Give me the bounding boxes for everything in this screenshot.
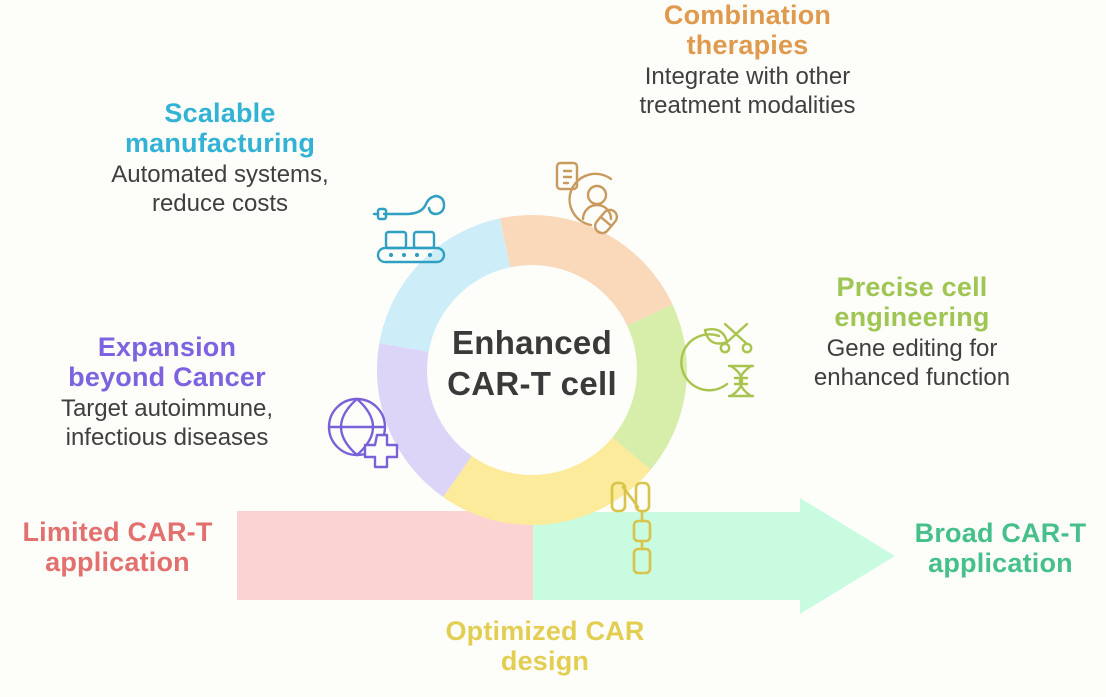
label-optimized-car-design: Optimized CAR design	[400, 616, 690, 676]
expansion-desc-line2: infectious diseases	[2, 424, 332, 453]
diagram-canvas: Enhanced CAR-T cell Combination therapie…	[0, 0, 1106, 697]
center-label: Enhanced CAR-T cell	[392, 322, 672, 405]
label-precise-cell-engineering: Precise cell engineering Gene editing fo…	[762, 272, 1062, 393]
scalable-title-line1: Scalable	[55, 98, 385, 128]
combination-title-line1: Combination	[575, 0, 920, 30]
combination-title-line2: therapies	[575, 30, 920, 60]
precise-desc-line1: Gene editing for	[762, 335, 1062, 364]
center-label-line1: Enhanced	[392, 322, 672, 363]
scalable-desc-line1: Automated systems,	[55, 161, 385, 190]
optimized-title-line1: Optimized CAR	[400, 616, 690, 646]
broad-title-line1: Broad CAR-T	[895, 518, 1106, 548]
precise-title-line2: engineering	[762, 302, 1062, 332]
precise-title-line1: Precise cell	[762, 272, 1062, 302]
label-limited-car-t-application: Limited CAR-T application	[0, 517, 235, 577]
combination-desc-line2: treatment modalities	[575, 92, 920, 121]
globe-cross-icon	[329, 399, 397, 467]
label-broad-car-t-application: Broad CAR-T application	[895, 518, 1106, 578]
car-receptor-icon	[612, 483, 650, 573]
limited-title-line1: Limited CAR-T	[0, 517, 235, 547]
label-expansion-beyond-cancer: Expansion beyond Cancer Target autoimmun…	[2, 332, 332, 453]
scalable-title-line2: manufacturing	[55, 128, 385, 158]
expansion-desc-line1: Target autoimmune,	[2, 395, 332, 424]
limited-title-line2: application	[0, 547, 235, 577]
optimized-title-line2: design	[400, 646, 690, 676]
expansion-title-line1: Expansion	[2, 332, 332, 362]
patient-pill-icon	[557, 163, 620, 236]
label-scalable-manufacturing: Scalable manufacturing Automated systems…	[55, 98, 385, 219]
dna-scissors-icon	[681, 324, 753, 396]
combination-desc-line1: Integrate with other	[575, 63, 920, 92]
center-label-line2: CAR-T cell	[392, 363, 672, 404]
label-combination-therapies: Combination therapies Integrate with oth…	[575, 0, 920, 121]
scalable-desc-line2: reduce costs	[55, 190, 385, 219]
precise-desc-line2: enhanced function	[762, 364, 1062, 393]
expansion-title-line2: beyond Cancer	[2, 362, 332, 392]
broad-title-line2: application	[895, 548, 1106, 578]
